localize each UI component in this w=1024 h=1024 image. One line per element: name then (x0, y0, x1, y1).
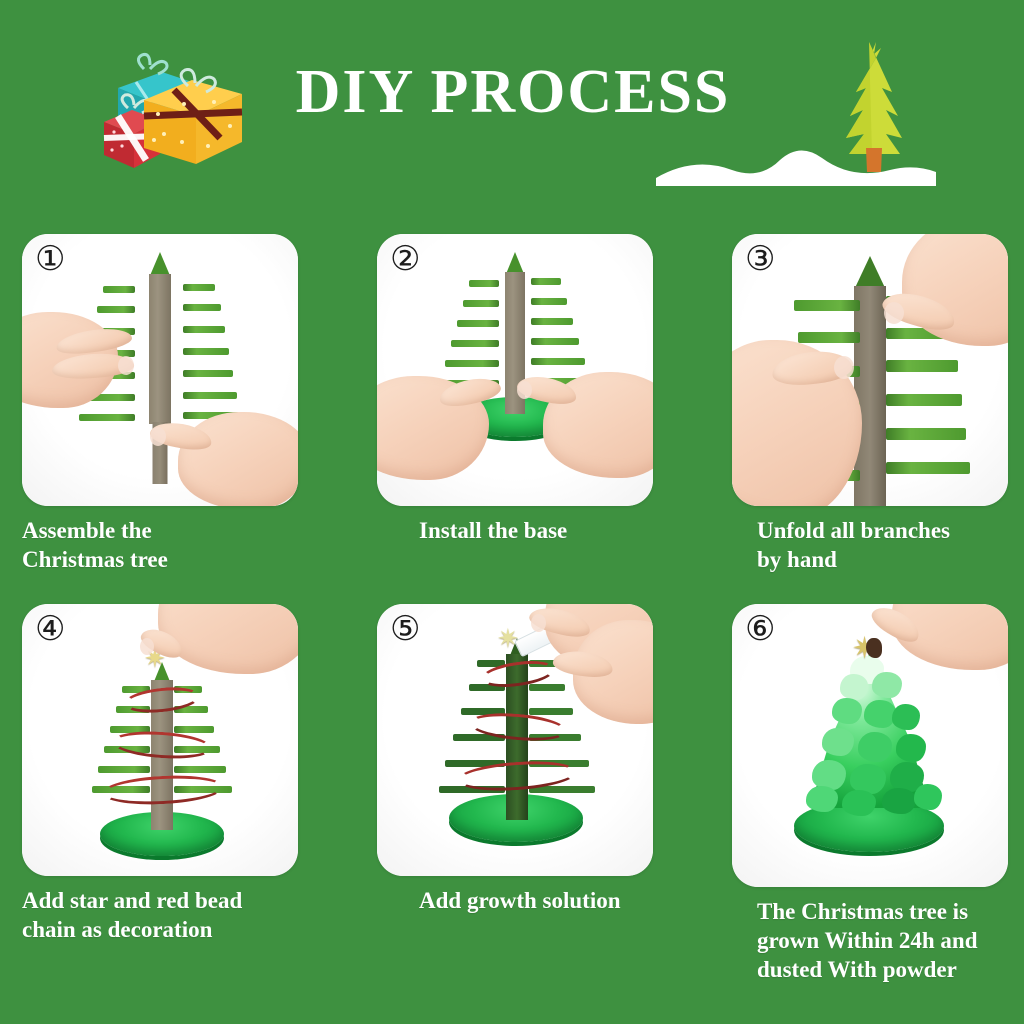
step-number-6: ⑥ (745, 612, 775, 646)
step-2-photo: ② (377, 234, 653, 506)
caption-line: by hand (757, 545, 1024, 574)
fingernail (517, 381, 532, 399)
caption-line: Add star and red bead (22, 886, 312, 915)
step-1-photo: ① (22, 234, 298, 506)
caption-line: Install the base (419, 516, 677, 545)
step-3-photo: ③ (732, 234, 1008, 506)
caption-line: grown Within 24h and (757, 926, 1024, 955)
christmas-tree-scene (650, 30, 940, 190)
paper-tree-closeup (850, 256, 890, 506)
step-5-caption: Add growth solution (377, 886, 677, 915)
step-card-2[interactable]: ② (355, 210, 710, 580)
step-1-caption: Assemble the Christmas tree (22, 516, 312, 574)
christmas-tree-icon (846, 42, 902, 172)
step-number-1: ① (35, 242, 65, 276)
step-card-5[interactable]: ⑤ ✷ (355, 580, 710, 970)
step-card-3[interactable]: ③ (710, 210, 1024, 580)
step-4-photo: ④ ✷ (22, 604, 298, 876)
step-number-2: ② (390, 242, 420, 276)
step-number-4: ④ (35, 612, 65, 646)
step-card-6[interactable]: ⑥ (710, 580, 1024, 970)
step-card-4[interactable]: ④ ✷ (0, 580, 355, 970)
caption-line: Assemble the (22, 516, 312, 545)
step-4-caption: Add star and red bead chain as decoratio… (22, 886, 312, 944)
fingernail (531, 614, 546, 632)
caption-line: The Christmas tree is (757, 897, 1024, 926)
fingernail (150, 427, 166, 446)
fingernail (118, 356, 134, 375)
step-6-caption: The Christmas tree is grown Within 24h a… (732, 897, 1024, 984)
fingernail (834, 356, 854, 379)
gift-stack-icon (96, 42, 256, 172)
caption-line: Unfold all branches (757, 516, 1024, 545)
caption-line: dusted With powder (757, 955, 1024, 984)
caption-line: chain as decoration (22, 915, 312, 944)
step-3-caption: Unfold all branches by hand (732, 516, 1024, 574)
step-5-photo: ⑤ ✷ (377, 604, 653, 876)
step-2-caption: Install the base (377, 516, 677, 545)
caption-line: Add growth solution (419, 886, 677, 915)
step-number-5: ⑤ (390, 612, 420, 646)
right-hand (178, 412, 298, 506)
step-6-photo: ⑥ (732, 604, 1008, 887)
caption-line: Christmas tree (22, 545, 312, 574)
grown-crystal-tree (784, 648, 956, 824)
fingernail (884, 302, 904, 324)
step-card-1[interactable]: ① (0, 210, 355, 580)
powder-pinch (866, 638, 882, 658)
step-number-3: ③ (745, 242, 775, 276)
page-header: DIY PROCESS (0, 0, 1024, 210)
steps-grid: ① (0, 210, 1024, 1024)
fingernail (140, 638, 154, 655)
